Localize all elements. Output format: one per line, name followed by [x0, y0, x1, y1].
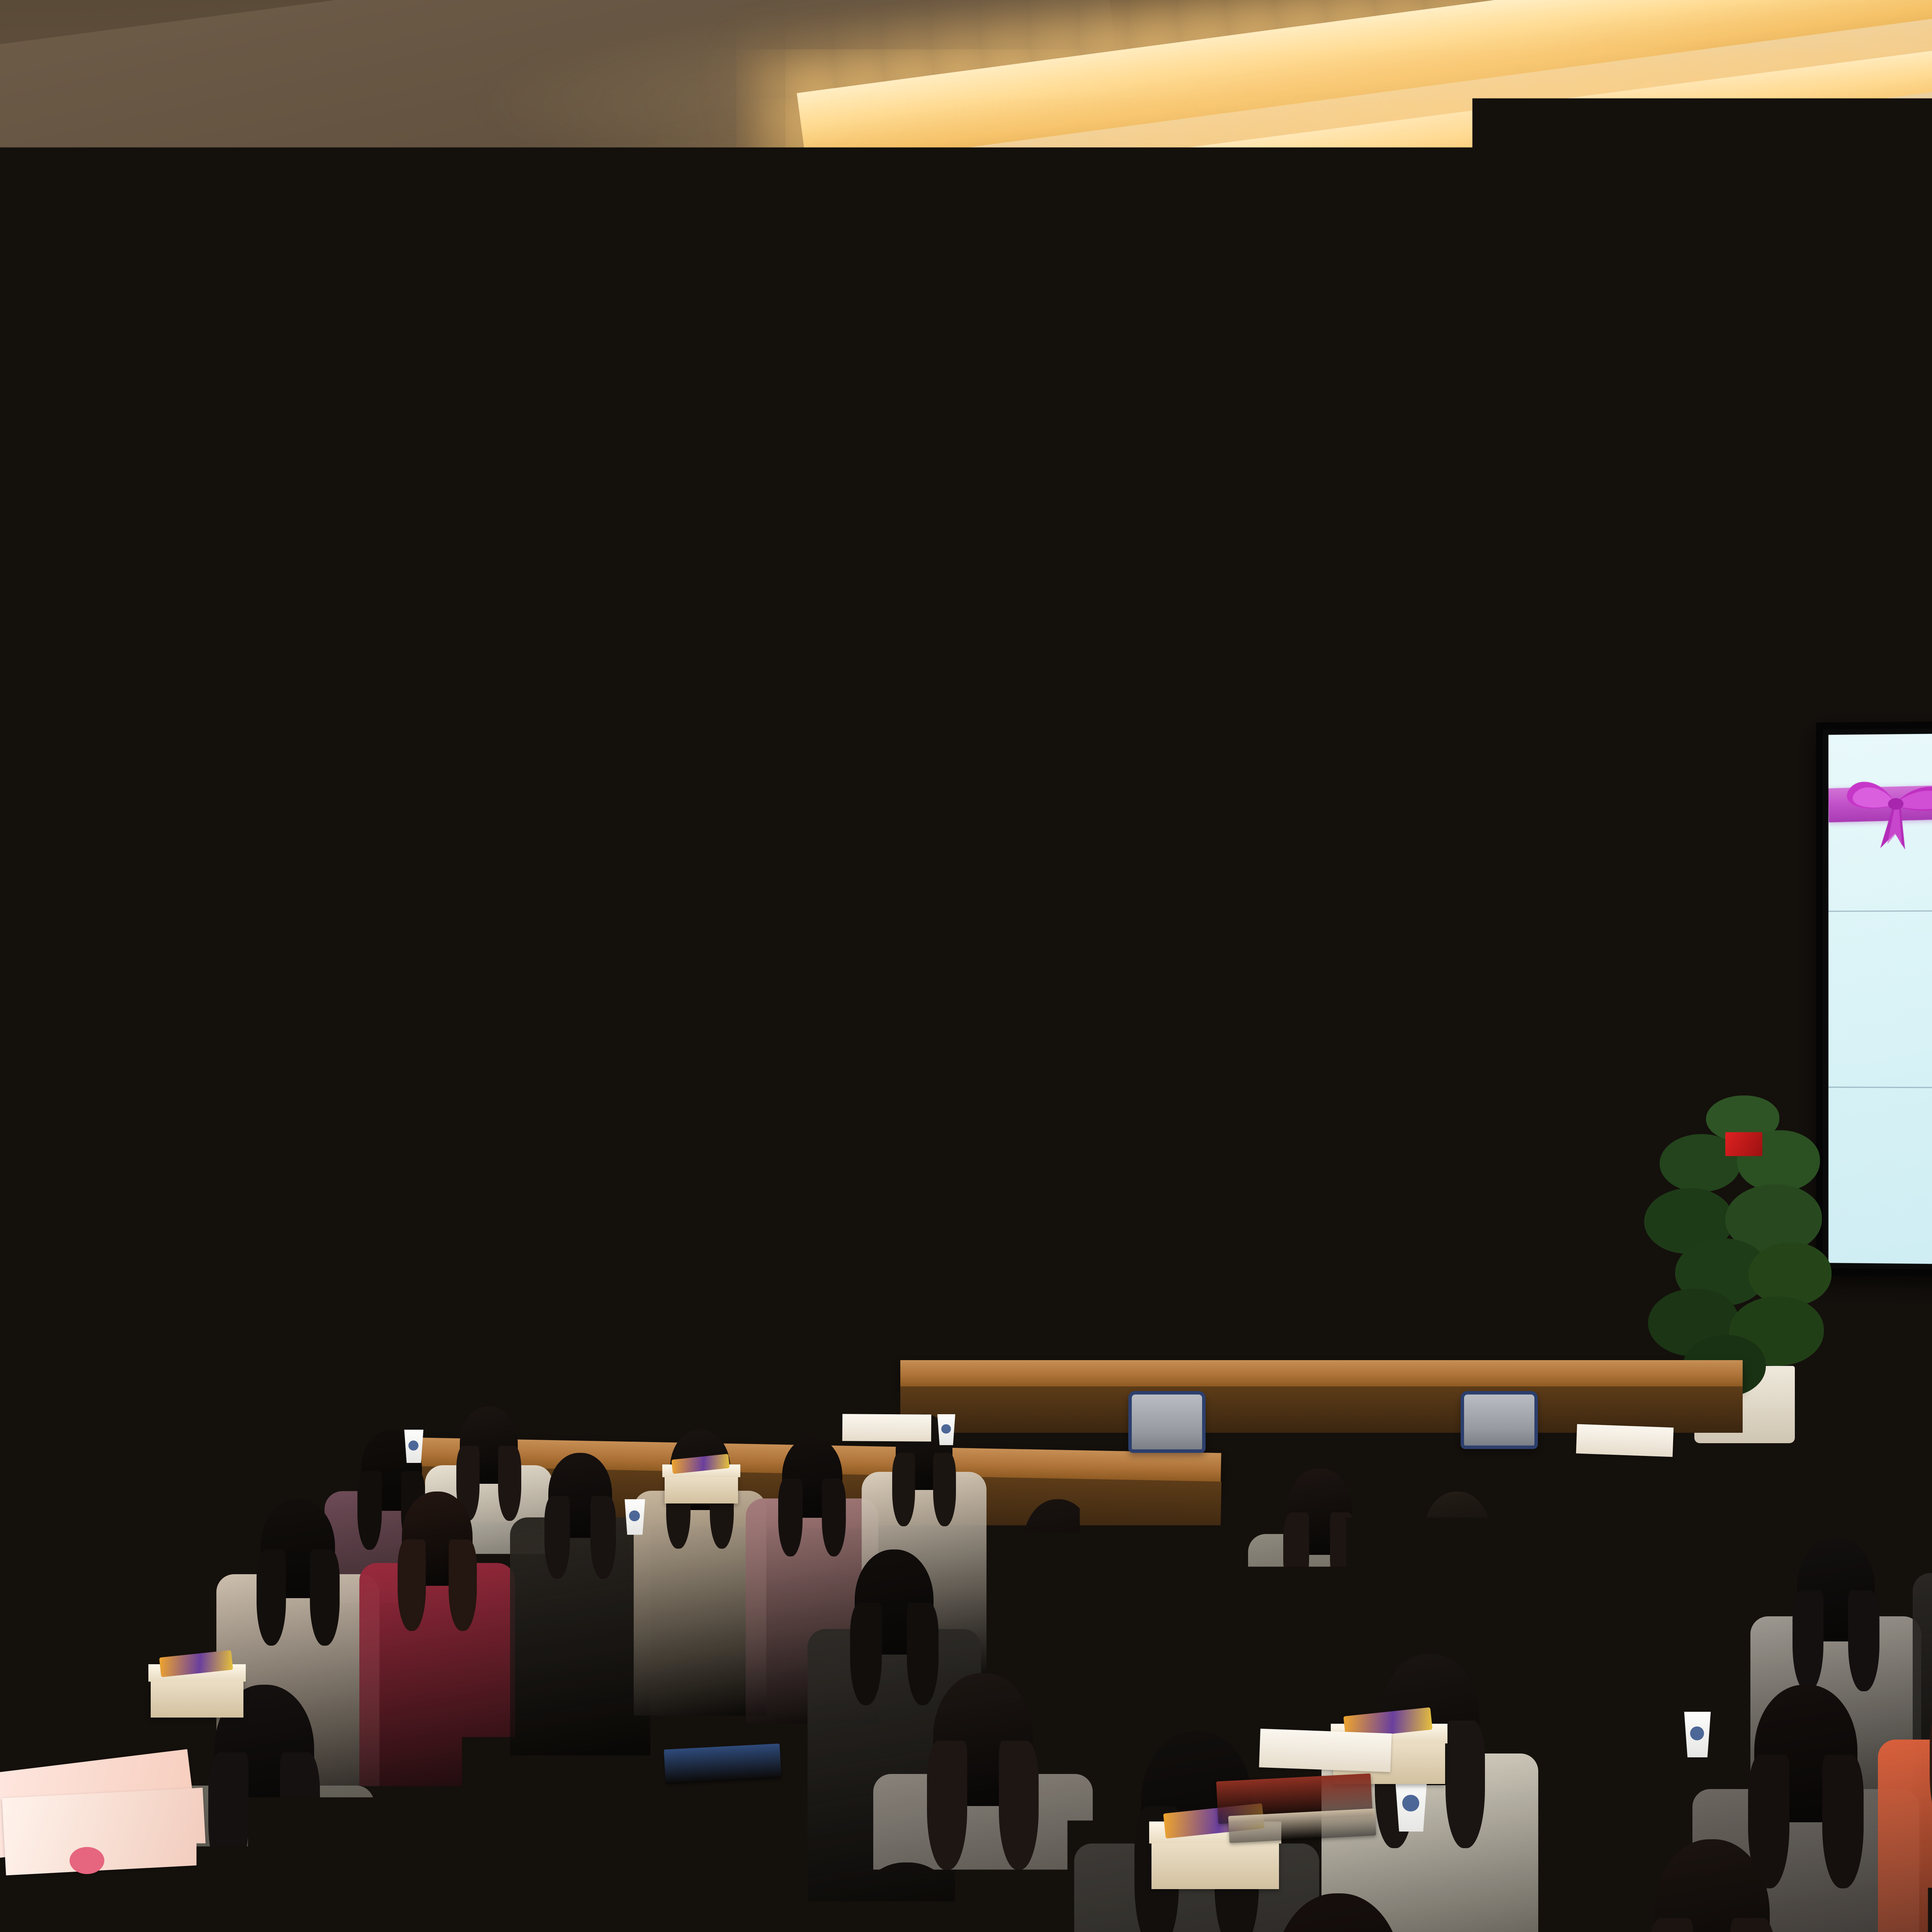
- audience-member: [1878, 1642, 1932, 1932]
- clock-numeral: 1: [678, 885, 687, 893]
- secondary-projector-pole: [981, 711, 989, 738]
- wall-power-outlet[interactable]: [1376, 1271, 1400, 1301]
- speaker-brand-logo: [966, 947, 982, 958]
- podium-emblem-crest: [1194, 1224, 1224, 1243]
- clock-numeral: 6: [665, 935, 674, 944]
- wrapped-flowers-paper: [2, 1788, 207, 1876]
- lily-bud: [502, 1153, 516, 1187]
- audience-member-hair-fall: [734, 1779, 776, 1914]
- audience-member-hair-fall: [1730, 1918, 1777, 1932]
- audience-member-hair-fall: [172, 1537, 201, 1631]
- audience-member-hair-fall: [1330, 1512, 1356, 1597]
- bouquet-ribbon: [357, 1283, 383, 1315]
- speaker-bracket: [949, 976, 987, 993]
- audience-member-hair-fall: [560, 1601, 592, 1708]
- paper-sheet: [1259, 1729, 1391, 1772]
- audience-member-hair-fall: [450, 1770, 491, 1904]
- audience-member-hair-fall: [1446, 1721, 1485, 1848]
- bouquet-wrapper: [508, 1206, 568, 1291]
- bouquet-ribbon: [77, 1283, 103, 1315]
- audience-member-hair-fall: [1141, 1529, 1168, 1616]
- audience-member-hair-fall: [280, 1752, 320, 1881]
- secondary-projector-head: [968, 736, 1003, 760]
- plant-red-ribbon: [1725, 1132, 1762, 1156]
- paper-sheet: [1576, 1424, 1674, 1457]
- paper-cup-logo: [941, 1424, 951, 1434]
- flower-bud-pink: [70, 1847, 104, 1874]
- clock-numeral: 5: [678, 932, 687, 940]
- audience-member-hair-fall: [310, 1549, 340, 1646]
- audience-member-torso: [1878, 1740, 1932, 1932]
- audience-member-hair: [1274, 1893, 1402, 1932]
- lily-bud: [390, 1153, 404, 1187]
- audience-member-hair-fall: [727, 1592, 759, 1696]
- ceiling-light-bloom-2: [0, 147, 1893, 386]
- door-panel-inset: [568, 1039, 684, 1464]
- plant-leaf: [1748, 1242, 1832, 1306]
- audience-member-hair-fall: [1468, 1537, 1495, 1624]
- ceiling: [0, 0, 1932, 842]
- clock-numeral: 8: [641, 922, 650, 930]
- audience-member-hair: [846, 1862, 968, 1932]
- audience-member-hair-fall: [999, 1741, 1039, 1870]
- audience-member-hair-fall: [1710, 1566, 1740, 1663]
- audience-member-hair-fall: [927, 1741, 967, 1870]
- paper-cup-logo: [526, 1857, 544, 1875]
- paper-cup-logo: [408, 1440, 418, 1451]
- audience-member-hair: [172, 1893, 291, 1932]
- clock-numeral: 11: [651, 885, 660, 893]
- lily-bud: [278, 1153, 292, 1187]
- audience-member-hair-fall: [120, 1537, 149, 1631]
- audience-member-hair-fall: [1019, 1546, 1047, 1636]
- audience-member-hair-fall: [1283, 1512, 1309, 1597]
- ribbon-bow-icon: [1837, 756, 1932, 854]
- clock-center-pin: [667, 910, 674, 917]
- audience-member-hair-fall: [1656, 1566, 1686, 1663]
- projector-mount-pole: [1866, 614, 1877, 660]
- audience-member-hair-fall: [1848, 1590, 1879, 1691]
- bouquet-ribbon: [469, 1283, 495, 1315]
- audience-member: [394, 1700, 621, 1932]
- audience-member-hair-fall: [892, 1453, 915, 1526]
- audience-member-hair-fall: [1069, 1546, 1097, 1636]
- audience-member: [1584, 1839, 1839, 1932]
- wall-light-panel: [1028, 823, 1128, 920]
- photographer-watch: [232, 1244, 250, 1254]
- chair[interactable]: [1128, 1391, 1206, 1453]
- ceiling-light-bloom-3: [541, 456, 1932, 657]
- clock-numeral: 2: [688, 895, 697, 903]
- audience-member: [1198, 1893, 1478, 1932]
- audience-member-hair-fall: [257, 1549, 286, 1646]
- audience-member-hair-fall: [659, 1779, 701, 1914]
- paper-cup-logo: [690, 1618, 704, 1633]
- paper-sheet: [842, 1414, 931, 1442]
- paper-cup-logo: [1402, 1795, 1419, 1812]
- lily-bud: [446, 1153, 460, 1187]
- audience-member-hair-fall: [208, 1752, 248, 1881]
- videowall-seam-h1: [1828, 906, 1932, 912]
- lily-bud: [110, 1153, 124, 1187]
- audience-member: [100, 1893, 363, 1932]
- lily-bud: [54, 1153, 68, 1187]
- lily-bud: [556, 1156, 569, 1189]
- clock-numeral: 9: [638, 908, 647, 917]
- clock-numeral: 10: [641, 895, 650, 903]
- flower-bouquet: [502, 1151, 572, 1314]
- microphone-head: [1285, 1103, 1301, 1119]
- audience-member-hair-fall: [933, 1453, 956, 1526]
- ceiling-vent-square-3: [1286, 685, 1404, 737]
- audience-member-hair-fall: [78, 1415, 101, 1490]
- clock-numeral: 3: [692, 908, 701, 917]
- book-on-desk: [664, 1743, 781, 1784]
- paper-cup-logo: [1690, 1726, 1704, 1740]
- audience-member-hair-fall: [822, 1478, 846, 1556]
- conference-hall-photo: 121234567891011 二、2021年工作计划 2021 年妇: [0, 0, 1932, 1932]
- smartphone[interactable]: [180, 1213, 240, 1241]
- videowall-seam-h2: [1828, 1087, 1932, 1092]
- audience-member-hair-fall: [1793, 1590, 1823, 1691]
- bouquet-ribbon: [301, 1283, 327, 1315]
- window-roller-shade[interactable]: [54, 908, 394, 1024]
- audience-member-hair-fall: [1420, 1537, 1447, 1624]
- audience-member-hair-fall: [398, 1539, 426, 1631]
- lily-bud: [334, 1153, 348, 1187]
- bouquet-ribbon: [413, 1283, 439, 1315]
- clock-numeral: 12: [665, 881, 674, 890]
- audience-member: [773, 1862, 1041, 1932]
- clock-numeral: 4: [688, 922, 697, 930]
- chair[interactable]: [1461, 1391, 1538, 1449]
- bouquet-ribbon: [526, 1283, 551, 1315]
- audience-member-hair-fall: [1190, 1529, 1217, 1616]
- paper-sheet: [386, 1642, 514, 1679]
